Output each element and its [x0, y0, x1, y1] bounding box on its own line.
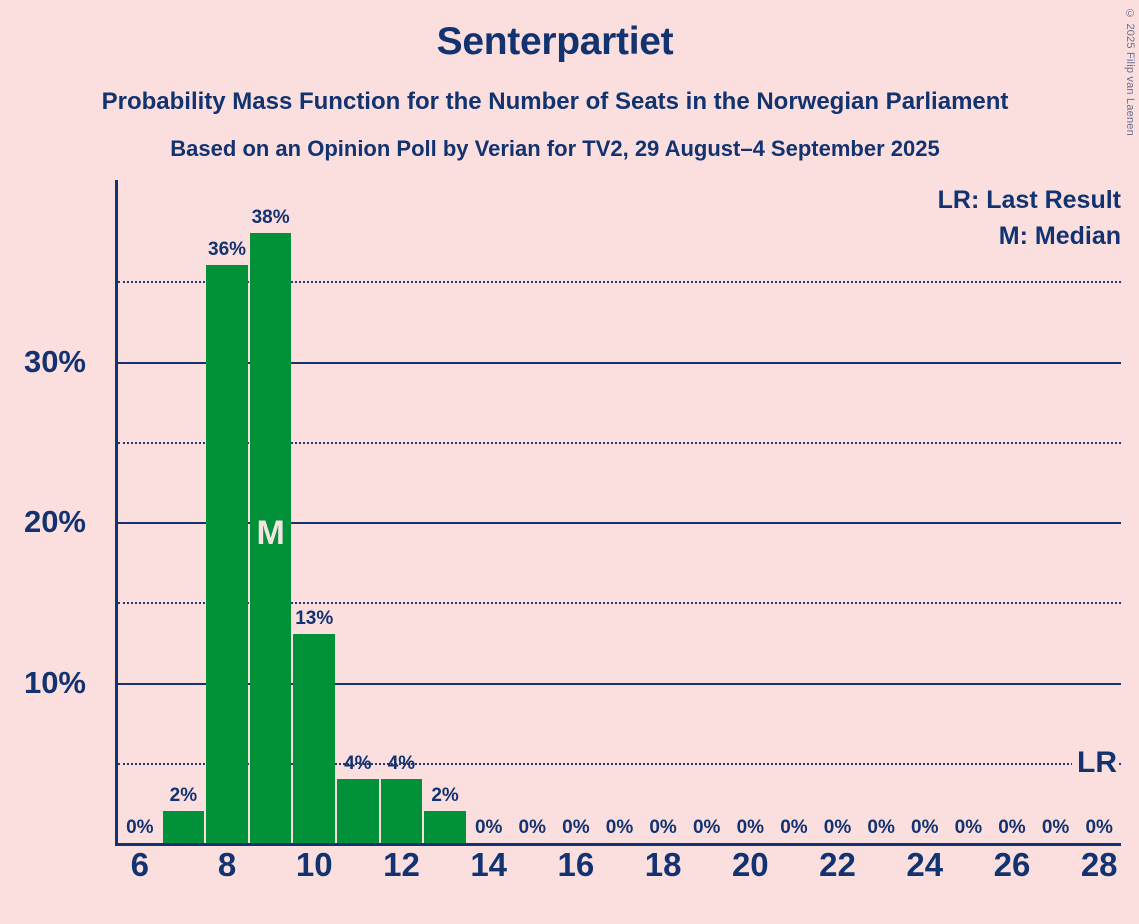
- bar-value-label-seat-20: 0%: [737, 817, 764, 839]
- chart-subtitle: Probability Mass Function for the Number…: [0, 88, 1110, 116]
- bar-value-label-seat-10: 13%: [295, 608, 333, 630]
- plot-area: 10%20%30% 0%2%36%38%13%4%4%2%0%0%0%0%0%0…: [118, 180, 1121, 843]
- last-result-marker: LR: [1072, 746, 1117, 780]
- chart-canvas: Senterpartiet Probability Mass Function …: [0, 0, 1139, 924]
- x-tick-label-8: 8: [218, 846, 236, 884]
- bar-value-label-seat-24: 0%: [911, 817, 938, 839]
- bar-value-label-seat-11: 4%: [344, 753, 371, 775]
- bar-value-label-seat-14: 0%: [475, 817, 502, 839]
- chart-source-subtitle: Based on an Opinion Poll by Verian for T…: [0, 136, 1110, 162]
- x-tick-label-6: 6: [131, 846, 149, 884]
- bar-value-label-seat-16: 0%: [562, 817, 589, 839]
- bar-seat-11: [337, 779, 379, 843]
- bar-value-label-seat-9: 38%: [252, 207, 290, 229]
- y-tick-label-30: 30%: [0, 344, 86, 380]
- bar-value-label-seat-7: 2%: [170, 785, 197, 807]
- x-tick-label-24: 24: [906, 846, 943, 884]
- bar-value-label-seat-13: 2%: [431, 785, 458, 807]
- bar-value-label-seat-12: 4%: [388, 753, 415, 775]
- bar-value-label-seat-25: 0%: [955, 817, 982, 839]
- x-tick-label-16: 16: [558, 846, 595, 884]
- median-marker: M: [256, 514, 284, 553]
- bar-value-label-seat-23: 0%: [867, 817, 894, 839]
- bar-seat-7: [163, 811, 205, 843]
- bar-value-label-seat-19: 0%: [693, 817, 720, 839]
- y-axis-line: [115, 180, 118, 846]
- bar-value-label-seat-15: 0%: [519, 817, 546, 839]
- x-tick-label-22: 22: [819, 846, 856, 884]
- bar-value-label-seat-6: 0%: [126, 817, 153, 839]
- bar-seat-10: [293, 634, 335, 843]
- bar-value-label-seat-27: 0%: [1042, 817, 1069, 839]
- bar-value-label-seat-21: 0%: [780, 817, 807, 839]
- bar-seat-13: [424, 811, 466, 843]
- bar-value-label-seat-18: 0%: [649, 817, 676, 839]
- x-tick-label-28: 28: [1081, 846, 1118, 884]
- page-title: Senterpartiet: [0, 22, 1110, 63]
- bar-value-label-seat-28: 0%: [1085, 817, 1112, 839]
- x-tick-label-20: 20: [732, 846, 769, 884]
- bar-value-label-seat-8: 36%: [208, 239, 246, 261]
- x-tick-label-18: 18: [645, 846, 682, 884]
- x-tick-label-26: 26: [994, 846, 1031, 884]
- bar-value-label-seat-26: 0%: [998, 817, 1025, 839]
- bar-value-label-seat-17: 0%: [606, 817, 633, 839]
- bar-seat-12: [381, 779, 423, 843]
- bar-seat-8: [206, 265, 248, 843]
- x-tick-label-10: 10: [296, 846, 333, 884]
- x-tick-label-14: 14: [470, 846, 507, 884]
- x-tick-label-12: 12: [383, 846, 420, 884]
- bar-value-label-seat-22: 0%: [824, 817, 851, 839]
- y-tick-label-10: 10%: [0, 665, 86, 701]
- copyright-notice: © 2025 Filip van Laenen: [1124, 8, 1136, 136]
- y-tick-label-20: 20%: [0, 504, 86, 540]
- x-axis-line: [115, 843, 1121, 846]
